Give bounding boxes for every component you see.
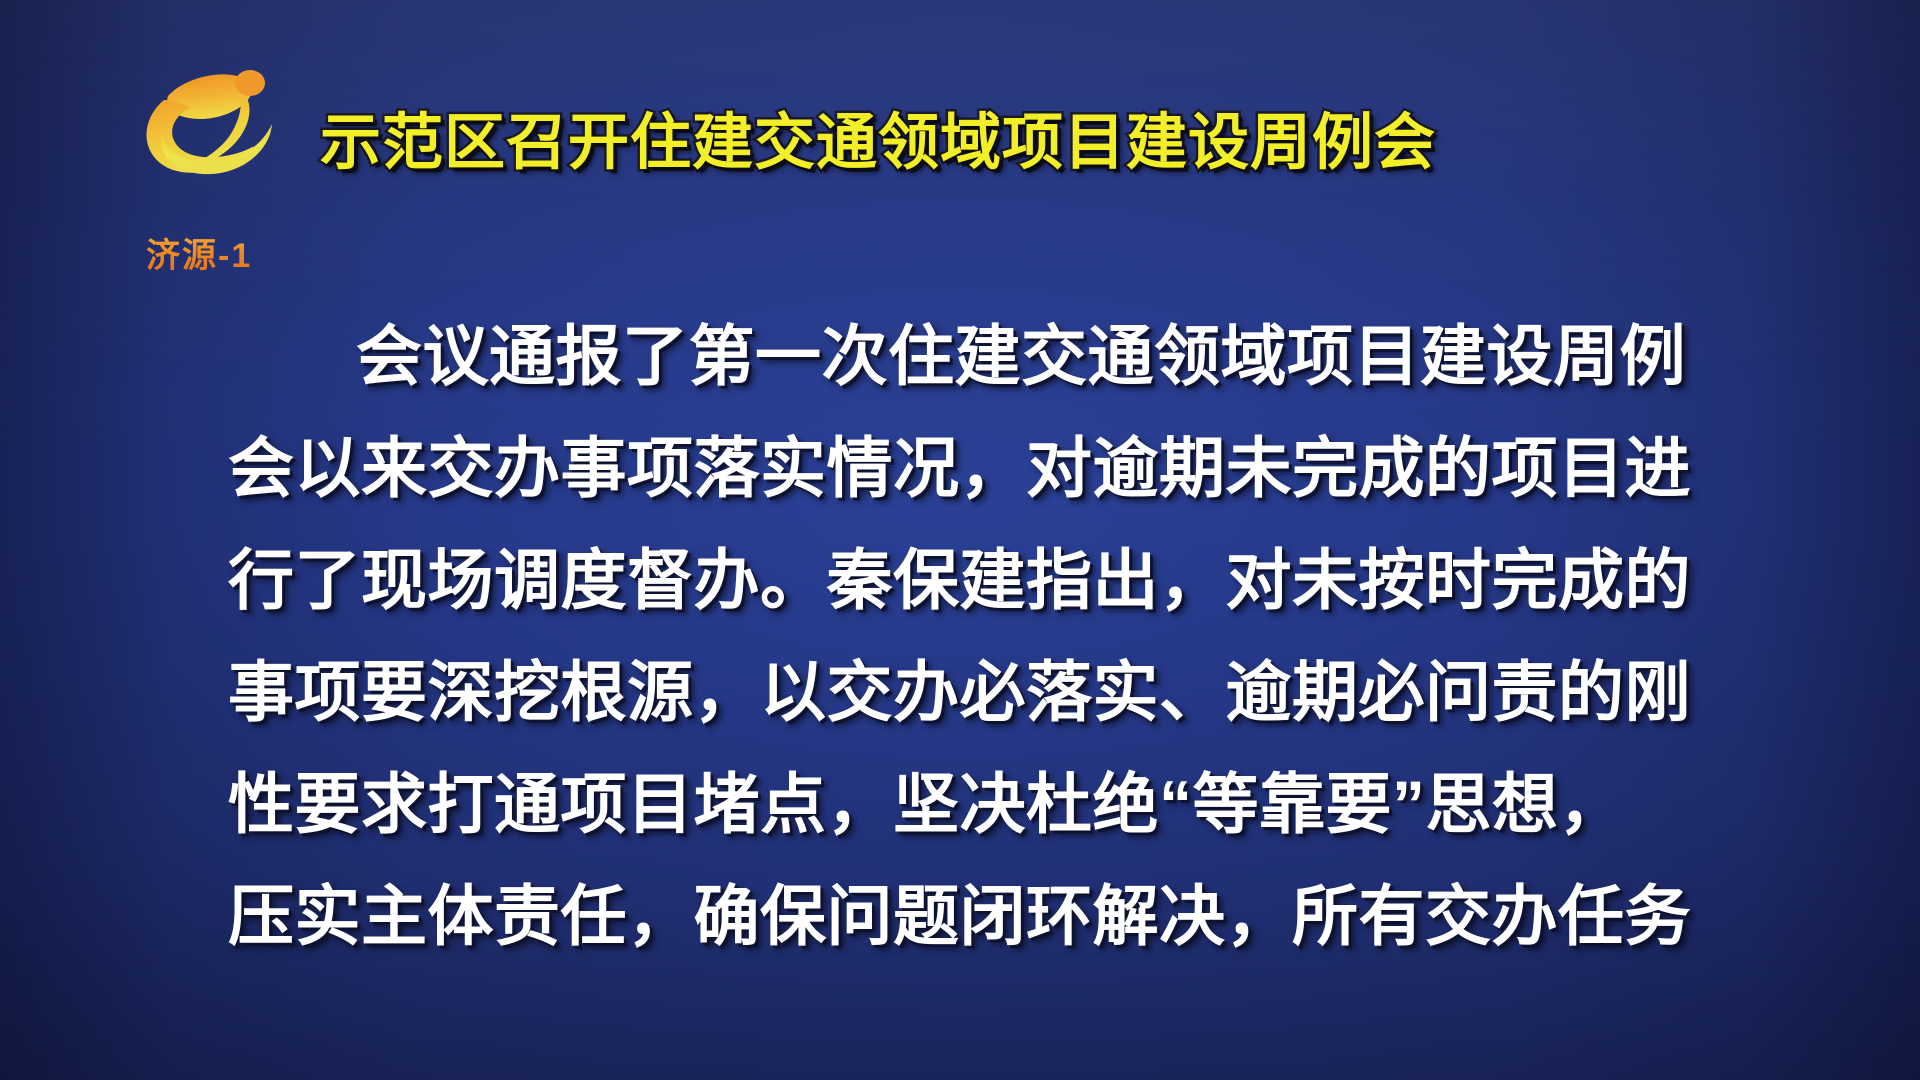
- caption-line: 会以来交办事项落实情况，对逾期未完成的项目进: [228, 412, 1714, 524]
- caption-line: 性要求打通项目堵点，坚决杜绝“等靠要”思想，: [228, 748, 1714, 860]
- channel-logo-block: 济源-1: [128, 62, 318, 222]
- caption-line: 事项要深挖根源，以交办必落实、逾期必问责的刚: [228, 636, 1714, 748]
- broadcast-caption-screen: 济源-1 示范区召开住建交通领域项目建设周例会 会议通报了第一次住建交通领域项目…: [0, 0, 1920, 1080]
- jiyuan-swirl-logo-icon: [128, 62, 298, 180]
- caption-line: 压实主体责任，确保问题闭环解决，所有交办任务: [228, 860, 1714, 972]
- caption-body: 会议通报了第一次住建交通领域项目建设周例 会以来交办事项落实情况，对逾期未完成的…: [228, 300, 1714, 972]
- caption-line: 行了现场调度督办。秦保建指出，对未按时完成的: [228, 524, 1714, 636]
- caption-line: 会议通报了第一次住建交通领域项目建设周例: [228, 300, 1714, 412]
- channel-name-label: 济源-1: [146, 228, 252, 277]
- headline-title: 示范区召开住建交通领域项目建设周例会: [320, 97, 1436, 175]
